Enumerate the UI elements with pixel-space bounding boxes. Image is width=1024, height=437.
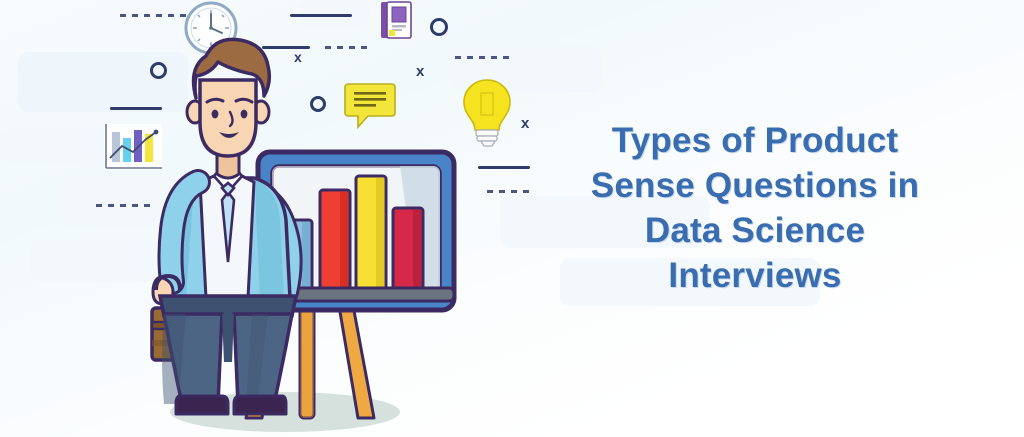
person-head bbox=[187, 39, 269, 178]
title-line-1: Types of Product bbox=[540, 118, 970, 163]
bar-2 bbox=[320, 190, 350, 290]
person-trousers bbox=[160, 296, 296, 404]
bar-line-chart-icon bbox=[104, 124, 162, 170]
title-line-3: Data Science bbox=[540, 208, 970, 253]
speech-bubble-icon bbox=[345, 84, 395, 127]
lightbulb-icon bbox=[464, 80, 510, 146]
title-line-4: Interviews bbox=[540, 253, 970, 298]
bar-3 bbox=[356, 176, 386, 290]
bar-4 bbox=[393, 208, 423, 290]
banner-title: Types of Product Sense Questions in Data… bbox=[540, 118, 970, 298]
title-line-2: Sense Questions in bbox=[540, 163, 970, 208]
book-icon bbox=[381, 2, 411, 38]
banner-image: x x x bbox=[0, 0, 1024, 437]
